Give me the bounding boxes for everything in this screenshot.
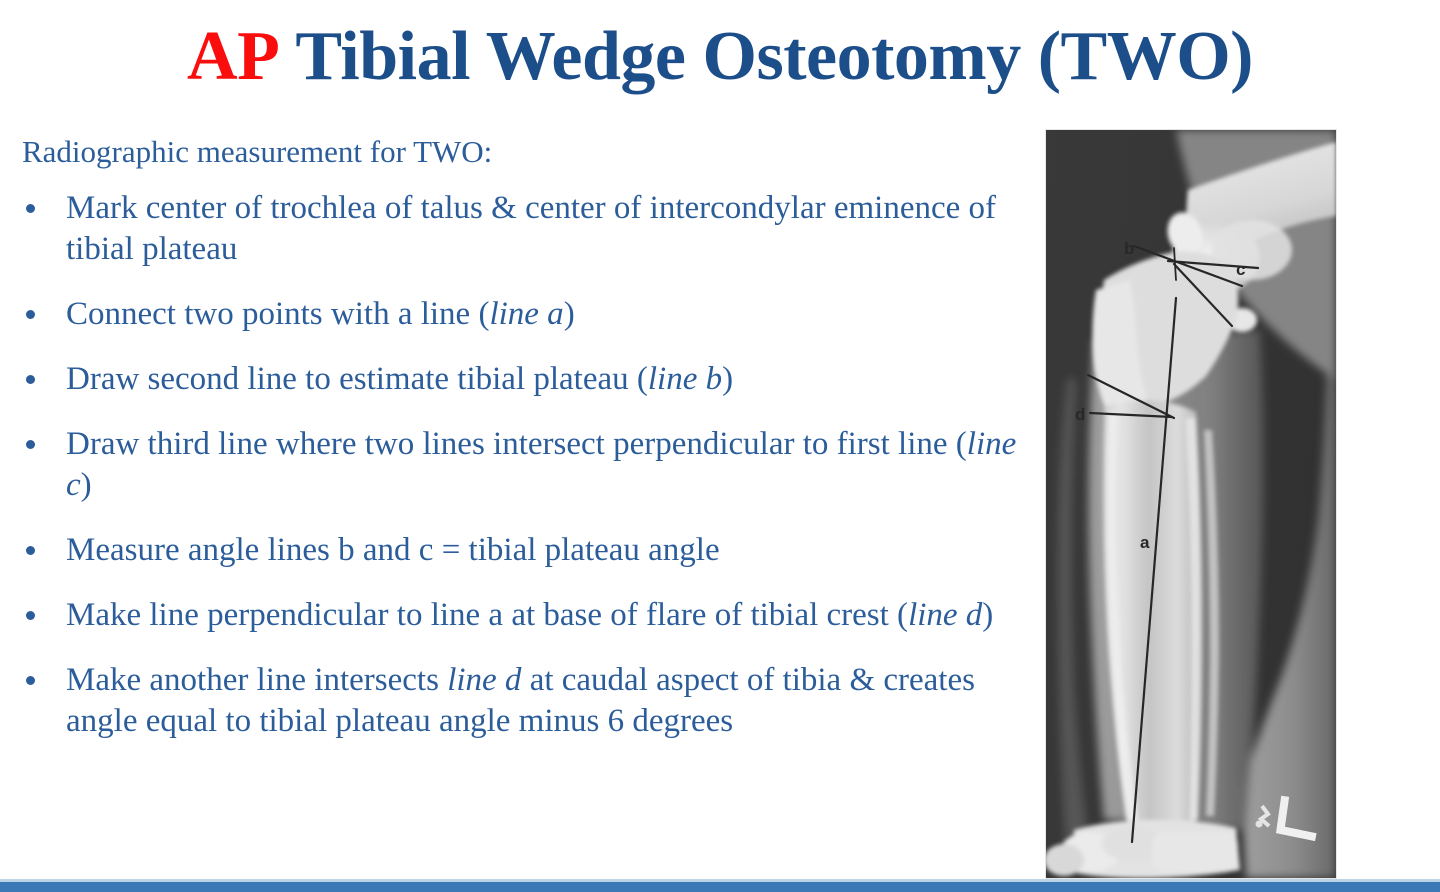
title-prefix-ap: AP — [187, 18, 279, 95]
list-item-text: Measure angle lines b and c = tibial pla… — [66, 530, 1030, 571]
bullet-dot-icon — [26, 310, 35, 319]
bullet-list: Mark center of trochlea of talus & cente… — [0, 188, 1030, 742]
footer-accent-bar — [0, 882, 1440, 892]
bullet-dot-icon — [26, 204, 35, 213]
lead-line: Radiographic measurement for TWO: — [0, 132, 1030, 172]
list-item-text: Make line perpendicular to line a at bas… — [66, 595, 1030, 636]
emphasis-text: line b — [648, 361, 722, 397]
plain-text: Mark center of trochlea of talus & cente… — [66, 190, 996, 267]
bullet-dot-icon — [26, 676, 35, 685]
plain-text: ) — [982, 597, 993, 633]
radiograph-image: b c d a — [1046, 130, 1336, 878]
list-item: Draw second line to estimate tibial plat… — [0, 359, 1030, 400]
title-main-text: Tibial Wedge Osteotomy (TWO) — [295, 18, 1253, 95]
list-item-text: Mark center of trochlea of talus & cente… — [66, 188, 1030, 270]
bullet-dot-icon — [26, 546, 35, 555]
emphasis-text: line a — [489, 296, 563, 332]
plain-text: ) — [722, 361, 733, 397]
slide: APTibial Wedge Osteotomy (TWO) Radiograp… — [0, 0, 1440, 892]
plain-text: Make another line intersects — [66, 662, 447, 698]
emphasis-text: line d — [447, 662, 521, 698]
list-item: Measure angle lines b and c = tibial pla… — [0, 530, 1030, 571]
bullet-dot-icon — [26, 611, 35, 620]
content-column: Radiographic measurement for TWO: Mark c… — [0, 132, 1030, 872]
list-item-text: Draw third line where two lines intersec… — [66, 424, 1030, 506]
bullet-dot-icon — [26, 440, 35, 449]
plain-text: Draw second line to estimate tibial plat… — [66, 361, 648, 397]
list-item: Make another line intersects line d at c… — [0, 660, 1030, 742]
list-item: Draw third line where two lines intersec… — [0, 424, 1030, 506]
plain-text: Draw third line where two lines intersec… — [66, 426, 967, 462]
list-item: Connect two points with a line (line a) — [0, 294, 1030, 335]
plain-text: Measure angle lines b and c = tibial pla… — [66, 532, 720, 568]
plain-text: ) — [81, 467, 92, 503]
list-item: Mark center of trochlea of talus & cente… — [0, 188, 1030, 270]
plain-text: Connect two points with a line ( — [66, 296, 489, 332]
list-item: Make line perpendicular to line a at bas… — [0, 595, 1030, 636]
list-item-text: Draw second line to estimate tibial plat… — [66, 359, 1030, 400]
list-item-text: Make another line intersects line d at c… — [66, 660, 1030, 742]
plain-text: ) — [564, 296, 575, 332]
slide-title: APTibial Wedge Osteotomy (TWO) — [0, 14, 1440, 100]
bullet-dot-icon — [26, 375, 35, 384]
plain-text: Make line perpendicular to line a at bas… — [66, 597, 908, 633]
list-item-text: Connect two points with a line (line a) — [66, 294, 1030, 335]
emphasis-text: line d — [908, 597, 982, 633]
